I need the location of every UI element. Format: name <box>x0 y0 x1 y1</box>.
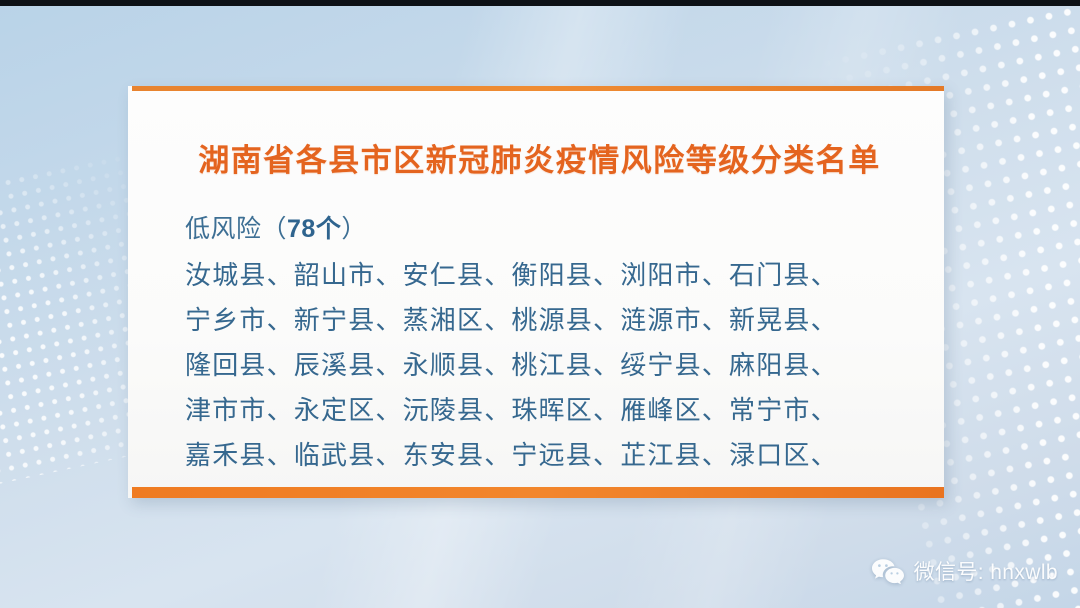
wechat-icon <box>871 558 905 584</box>
page-title: 湖南省各县市区新冠肺炎疫情风险等级分类名单 <box>185 135 904 180</box>
section-heading: 低风险（78个） <box>185 209 904 245</box>
card-content: 湖南省各县市区新冠肺炎疫情风险等级分类名单 低风险（78个） 汝城县、韶山市、安… <box>128 91 944 487</box>
card-bottom-rule <box>132 487 944 498</box>
watermark-text: 微信号: hnxwlb <box>914 556 1058 586</box>
section-heading-close: ） <box>341 215 367 243</box>
slide-canvas: 湖南省各县市区新冠肺炎疫情风险等级分类名单 低风险（78个） 汝城县、韶山市、安… <box>0 0 1080 608</box>
list-item: 隆回县、辰溪县、永顺县、桃江县、绥宁县、麻阳县、 <box>185 343 904 388</box>
list-item: 宁乡市、新宁县、蒸湘区、桃源县、涟源市、新晃县、 <box>185 298 904 343</box>
section-heading-count: 78个 <box>287 215 341 243</box>
info-card: 湖南省各县市区新冠肺炎疫情风险等级分类名单 低风险（78个） 汝城县、韶山市、安… <box>128 86 944 498</box>
list-item: 嘉禾县、临武县、东安县、宁远县、芷江县、渌口区、 <box>185 433 904 478</box>
list-item: 津市市、永定区、沅陵县、珠晖区、雁峰区、常宁市、 <box>185 388 904 433</box>
region-list: 汝城县、韶山市、安仁县、衡阳县、浏阳市、石门县、 宁乡市、新宁县、蒸湘区、桃源县… <box>185 253 904 478</box>
list-item: 汝城县、韶山市、安仁县、衡阳县、浏阳市、石门县、 <box>185 253 904 298</box>
watermark: 微信号: hnxwlb <box>871 556 1058 586</box>
section-heading-label: 低风险（ <box>185 215 287 243</box>
top-letterbox-bar <box>0 0 1080 6</box>
